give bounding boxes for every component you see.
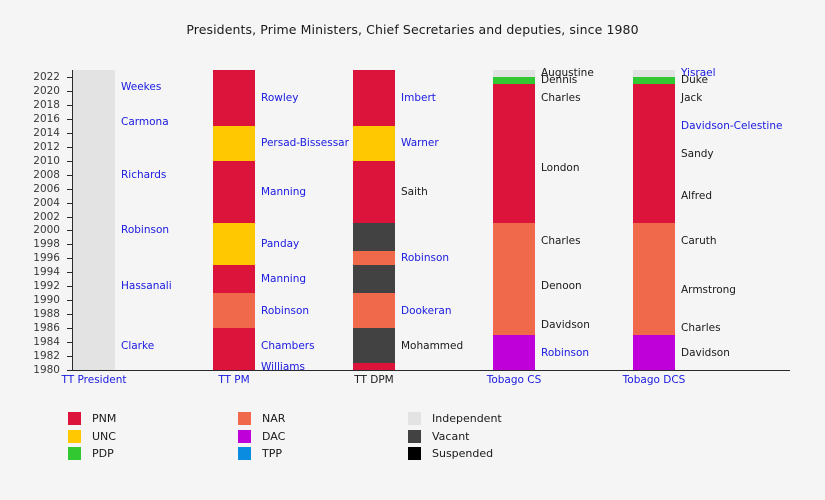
legend-label: DAC (262, 430, 285, 443)
legend-item[interactable]: TPP (238, 445, 285, 463)
timeline-segment[interactable] (353, 265, 395, 293)
timeline-segment[interactable] (73, 251, 115, 321)
y-axis-tick-label: 2004 (16, 197, 60, 209)
legend-label: NAR (262, 412, 285, 425)
legend-swatch-icon (408, 447, 421, 460)
y-axis-tick-label: 2020 (16, 85, 60, 97)
legend-label: Suspended (432, 447, 493, 460)
legend-column: IndependentVacantSuspended (408, 410, 502, 463)
legend-item[interactable]: NAR (238, 410, 285, 428)
timeline-segment[interactable] (633, 168, 675, 224)
y-axis-tick-mark (67, 105, 72, 106)
timeline-segment[interactable] (353, 293, 395, 328)
timeline-segment[interactable] (493, 112, 535, 224)
legend-item[interactable]: UNC (68, 428, 116, 446)
timeline-segment[interactable] (73, 321, 115, 370)
timeline-segment-label: Robinson (541, 347, 589, 358)
legend-column: NARDACTPP (238, 410, 285, 463)
legend-label: PNM (92, 412, 116, 425)
y-axis-tick-label: 2008 (16, 169, 60, 181)
legend-swatch-icon (238, 412, 251, 425)
timeline-segment[interactable] (353, 363, 395, 370)
x-axis-tick-label: TT DPM (354, 374, 393, 386)
y-axis-tick-mark (67, 342, 72, 343)
y-axis-tick-label: 2016 (16, 113, 60, 125)
timeline-segment[interactable] (633, 84, 675, 112)
legend-label: TPP (262, 447, 282, 460)
y-axis-tick-mark (67, 286, 72, 287)
legend-item[interactable]: Independent (408, 410, 502, 428)
y-axis-tick-mark (67, 119, 72, 120)
y-axis-tick-label: 1998 (16, 238, 60, 250)
timeline-segment-label: Charles (541, 236, 581, 247)
y-axis-tick-mark (67, 217, 72, 218)
timeline-segment[interactable] (353, 126, 395, 161)
timeline-segment[interactable] (633, 112, 675, 140)
timeline-segment[interactable] (73, 70, 115, 105)
legend-swatch-icon (408, 430, 421, 443)
timeline-segment-label: Manning (261, 274, 306, 285)
y-axis-tick-mark (67, 328, 72, 329)
chart-root: Presidents, Prime Ministers, Chief Secre… (0, 0, 825, 500)
y-axis-tick-mark (67, 300, 72, 301)
timeline-segment[interactable] (633, 321, 675, 335)
y-axis-tick-label: 2000 (16, 224, 60, 236)
timeline-segment-label: Panday (261, 239, 299, 250)
timeline-segment-label: Charles (541, 93, 581, 104)
timeline-segment[interactable] (633, 140, 675, 168)
y-axis-tick-label: 1990 (16, 294, 60, 306)
timeline-segment[interactable] (213, 161, 255, 224)
timeline-segment-label: Davidson (681, 347, 730, 358)
y-axis-tick-mark (67, 370, 72, 371)
timeline-segment-label: Alfred (681, 190, 712, 201)
y-axis-tick-mark (67, 161, 72, 162)
timeline-segment-label: Denoon (541, 281, 582, 292)
y-axis-tick-mark (67, 258, 72, 259)
y-axis-tick-label: 2012 (16, 141, 60, 153)
legend-item[interactable]: PDP (68, 445, 116, 463)
timeline-segment[interactable] (353, 328, 395, 363)
legend-item[interactable]: DAC (238, 428, 285, 446)
timeline-segment[interactable] (633, 335, 675, 370)
timeline-segment-label: Weekes (121, 82, 161, 93)
timeline-segment[interactable] (493, 223, 535, 258)
x-axis-tick-label: TT PM (218, 374, 249, 386)
timeline-segment[interactable] (73, 105, 115, 140)
x-axis-tick-label: TT President (62, 374, 127, 386)
timeline-segment[interactable] (493, 77, 535, 84)
x-axis-tick-label: Tobago DCS (623, 374, 686, 386)
timeline-segment-label: Davidson-Celestine (681, 121, 782, 132)
timeline-segment-label: Dennis (541, 75, 577, 86)
timeline-segment[interactable] (213, 126, 255, 161)
y-axis-tick-mark (67, 230, 72, 231)
timeline-column-tt-dpm: ImbertWarnerSaithRobinsonDookeranMohamme… (353, 0, 395, 500)
timeline-segment-label: Armstrong (681, 285, 736, 296)
timeline-segment[interactable] (213, 328, 255, 363)
x-axis-line (72, 370, 790, 371)
timeline-segment[interactable] (213, 293, 255, 328)
y-axis-tick-label: 1980 (16, 364, 60, 376)
timeline-segment[interactable] (633, 258, 675, 321)
timeline-segment[interactable] (353, 223, 395, 251)
timeline-segment[interactable] (493, 70, 535, 77)
y-axis-tick-mark (67, 314, 72, 315)
timeline-segment[interactable] (353, 161, 395, 224)
y-axis-tick-mark (67, 244, 72, 245)
timeline-segment[interactable] (353, 70, 395, 126)
timeline-segment-label: Chambers (261, 340, 315, 351)
timeline-segment[interactable] (73, 140, 115, 210)
y-axis-tick-label: 2002 (16, 211, 60, 223)
legend-swatch-icon (408, 412, 421, 425)
timeline-segment[interactable] (73, 210, 115, 252)
y-axis-tick-label: 2018 (16, 99, 60, 111)
timeline-segment-label: Sandy (681, 148, 714, 159)
legend-swatch-icon (68, 412, 81, 425)
timeline-segment-label: Robinson (261, 305, 309, 316)
y-axis-tick-mark (67, 175, 72, 176)
timeline-segment-label: Duke (681, 75, 708, 86)
y-axis-tick-mark (67, 77, 72, 78)
y-axis-tick-label: 2010 (16, 155, 60, 167)
y-axis-tick-label: 1984 (16, 336, 60, 348)
y-axis-tick-label: 2014 (16, 127, 60, 139)
legend-label: PDP (92, 447, 114, 460)
y-axis-tick-label: 2022 (16, 71, 60, 83)
legend-item[interactable]: PNM (68, 410, 116, 428)
timeline-segment[interactable] (353, 251, 395, 265)
y-axis-tick-mark (67, 203, 72, 204)
timeline-segment[interactable] (213, 223, 255, 265)
timeline-segment-label: Manning (261, 187, 306, 198)
timeline-segment-label: Richards (121, 169, 166, 180)
timeline-segment-label: Carmona (121, 117, 169, 128)
timeline-segment-label: Charles (681, 323, 721, 334)
y-axis-tick-mark (67, 91, 72, 92)
timeline-segment[interactable] (493, 258, 535, 314)
timeline-segment-label: Robinson (121, 225, 169, 236)
legend-column: PNMUNCPDP (68, 410, 116, 463)
legend-swatch-icon (68, 447, 81, 460)
y-axis-tick-label: 1988 (16, 308, 60, 320)
y-axis-tick-label: 1992 (16, 280, 60, 292)
legend-label: Independent (432, 412, 502, 425)
timeline-segment-label: Williams (261, 361, 305, 372)
timeline-segment-label: London (541, 162, 580, 173)
timeline-segment-label: Clarke (121, 340, 154, 351)
timeline-segment-label: Caruth (681, 236, 717, 247)
y-axis-tick-label: 1994 (16, 266, 60, 278)
timeline-segment[interactable] (213, 70, 255, 126)
timeline-segment-label: Imbert (401, 93, 436, 104)
timeline-segment-label: Hassanali (121, 281, 172, 292)
y-axis-tick-label: 1982 (16, 350, 60, 362)
timeline-segment-label: Rowley (261, 93, 298, 104)
timeline-segment[interactable] (493, 335, 535, 370)
timeline-segment-label: Dookeran (401, 305, 452, 316)
timeline-segment[interactable] (213, 265, 255, 293)
y-axis-tick-mark (67, 356, 72, 357)
timeline-segment-label: Saith (401, 187, 428, 198)
y-axis-tick-label: 1986 (16, 322, 60, 334)
y-axis-tick-mark (67, 147, 72, 148)
y-axis-tick-mark (67, 189, 72, 190)
y-axis-tick-label: 2006 (16, 183, 60, 195)
timeline-segment-label: Jack (681, 93, 702, 104)
timeline-column-tobago-dcs: YisraelDukeJackDavidson-CelestineSandyAl… (633, 0, 675, 500)
legend-swatch-icon (238, 430, 251, 443)
timeline-segment-label: Davidson (541, 319, 590, 330)
timeline-segment[interactable] (633, 70, 675, 77)
legend-item[interactable]: Vacant (408, 428, 502, 446)
x-axis-tick-label: Tobago CS (487, 374, 542, 386)
y-axis-tick-label: 1996 (16, 252, 60, 264)
legend-swatch-icon (68, 430, 81, 443)
timeline-segment[interactable] (633, 223, 675, 258)
y-axis-tick-mark (67, 272, 72, 273)
timeline-segment[interactable] (213, 363, 255, 370)
legend-label: UNC (92, 430, 116, 443)
timeline-segment-label: Mohammed (401, 340, 463, 351)
timeline-segment[interactable] (633, 77, 675, 84)
legend-label: Vacant (432, 430, 470, 443)
timeline-segment-label: Robinson (401, 253, 449, 264)
legend-item[interactable]: Suspended (408, 445, 502, 463)
timeline-segment-label: Persad-Bissessar (261, 138, 349, 149)
legend-swatch-icon (238, 447, 251, 460)
timeline-segment[interactable] (493, 84, 535, 112)
timeline-segment[interactable] (493, 314, 535, 335)
y-axis-tick-mark (67, 133, 72, 134)
timeline-segment-label: Warner (401, 138, 439, 149)
